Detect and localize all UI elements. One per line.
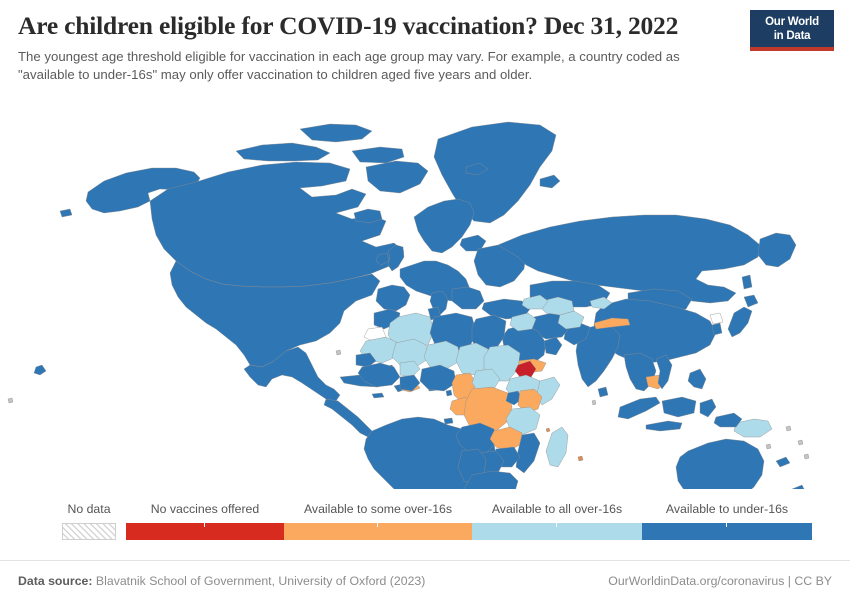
country-indonesia-java[interactable]	[646, 421, 682, 431]
map-countries	[8, 122, 809, 489]
island-hawaii[interactable]	[34, 365, 46, 375]
legend-label-under-16s: Available to under-16s	[666, 502, 788, 516]
country-new-zealand[interactable]	[790, 485, 806, 489]
legend-label-all-over-16s: Available to all over-16s	[492, 502, 622, 516]
country-canada-arctic-1[interactable]	[236, 143, 330, 161]
country-russia-sakhalin[interactable]	[742, 275, 752, 289]
legend-swatch-no-data[interactable]	[62, 523, 116, 540]
country-greenland-isl[interactable]	[540, 175, 560, 188]
country-south-korea[interactable]	[712, 323, 722, 335]
page-title: Are children eligible for COVID-19 vacci…	[18, 12, 832, 41]
island-fiji[interactable]	[804, 454, 809, 459]
country-indonesia-sulawesi[interactable]	[700, 399, 716, 417]
country-philippines[interactable]	[688, 369, 706, 389]
legend-swatch-some-over-16s[interactable]	[284, 523, 472, 540]
country-japan-hokkaido[interactable]	[744, 295, 758, 307]
legend-swatch-all-over-16s[interactable]	[472, 523, 642, 540]
data-source-text: Blavatnik School of Government, Universi…	[93, 574, 426, 588]
data-source: Data source: Blavatnik School of Governm…	[18, 574, 425, 588]
country-west-papua[interactable]	[714, 413, 742, 427]
owid-logo[interactable]: Our World in Data	[750, 10, 834, 51]
country-oman[interactable]	[544, 337, 562, 355]
country-jamaica[interactable]	[372, 393, 384, 398]
country-central-america[interactable]	[324, 399, 372, 437]
country-niger[interactable]	[424, 341, 460, 369]
island-pacific-2[interactable]	[798, 440, 803, 445]
legend-swatch-no-vaccines[interactable]	[126, 523, 284, 540]
country-vietnam[interactable]	[656, 355, 672, 389]
attribution-link[interactable]: OurWorldinData.org/coronavirus | CC BY	[608, 574, 832, 588]
legend-label-no-vaccines: No vaccines offered	[151, 502, 259, 516]
country-russia-kamchatka[interactable]	[758, 233, 796, 267]
country-sri-lanka[interactable]	[598, 387, 608, 397]
legend-color-bar[interactable]	[0, 523, 850, 540]
data-source-label: Data source:	[18, 574, 93, 588]
legend-labels: No data No vaccines offered Available to…	[0, 502, 850, 522]
island-mauritius[interactable]	[578, 456, 583, 461]
chart-subtitle: The youngest age threshold eligible for …	[18, 48, 740, 85]
country-canada-baffin[interactable]	[366, 161, 428, 193]
country-japan[interactable]	[728, 307, 752, 337]
legend-label-some-over-16s: Available to some over-16s	[304, 502, 452, 516]
legend-swatch-under-16s[interactable]	[642, 523, 812, 540]
country-iberia[interactable]	[376, 285, 410, 311]
country-indonesia-borneo[interactable]	[662, 397, 696, 417]
country-canada-arctic-3[interactable]	[352, 147, 404, 163]
legend-label-no-data: No data	[67, 502, 110, 516]
owid-logo-line1: Our World	[750, 15, 834, 29]
island-new-caledonia[interactable]	[776, 457, 790, 467]
country-australia[interactable]	[676, 439, 764, 489]
island-pacific-3[interactable]	[766, 444, 771, 449]
chart-header: Are children eligible for COVID-19 vacci…	[0, 0, 850, 85]
map-legend: No data No vaccines offered Available to…	[0, 502, 850, 554]
island-pacific-1[interactable]	[786, 426, 791, 431]
country-balkans[interactable]	[452, 287, 484, 309]
chart-footer: Data source: Blavatnik School of Governm…	[0, 560, 850, 600]
world-choropleth-map[interactable]	[0, 89, 850, 489]
country-north-korea[interactable]	[710, 313, 723, 324]
country-canada-arctic-2[interactable]	[300, 124, 372, 142]
country-trinidad[interactable]	[444, 418, 453, 424]
island-maldives[interactable]	[592, 400, 596, 405]
country-lesser-antilles[interactable]	[446, 390, 452, 396]
island-cape-verde[interactable]	[336, 350, 341, 355]
island-comoros[interactable]	[546, 428, 550, 432]
island-galapagos[interactable]	[8, 398, 13, 403]
owid-chart: Are children eligible for COVID-19 vacci…	[0, 0, 850, 600]
owid-logo-line2: in Data	[750, 29, 834, 43]
country-indonesia-sumatra[interactable]	[618, 397, 660, 419]
country-nigeria[interactable]	[420, 365, 456, 391]
country-madagascar[interactable]	[546, 427, 568, 467]
island-aleutian[interactable]	[60, 209, 72, 217]
